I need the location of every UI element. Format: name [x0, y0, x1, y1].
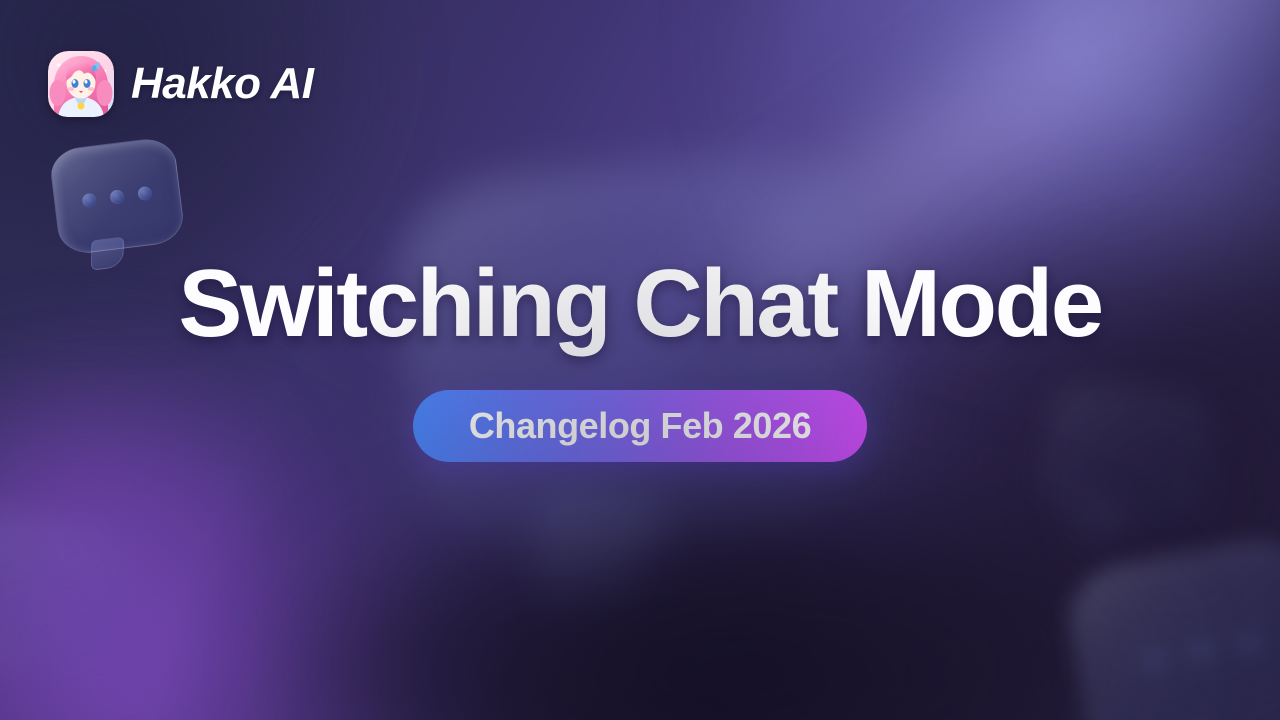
hakko-anime-avatar-icon: [48, 51, 114, 117]
hero-content: Switching Chat Mode Changelog Feb 2026: [0, 252, 1280, 462]
hero-banner: Hakko AI Switching Chat Mode Changelog F…: [0, 0, 1280, 720]
changelog-badge-button[interactable]: Changelog Feb 2026: [413, 390, 867, 462]
brand-name: Hakko AI: [131, 62, 313, 106]
brand-logo[interactable]: Hakko AI: [48, 51, 313, 117]
hero-badge-row: Changelog Feb 2026: [0, 390, 1280, 462]
page-title: Switching Chat Mode: [0, 252, 1280, 356]
